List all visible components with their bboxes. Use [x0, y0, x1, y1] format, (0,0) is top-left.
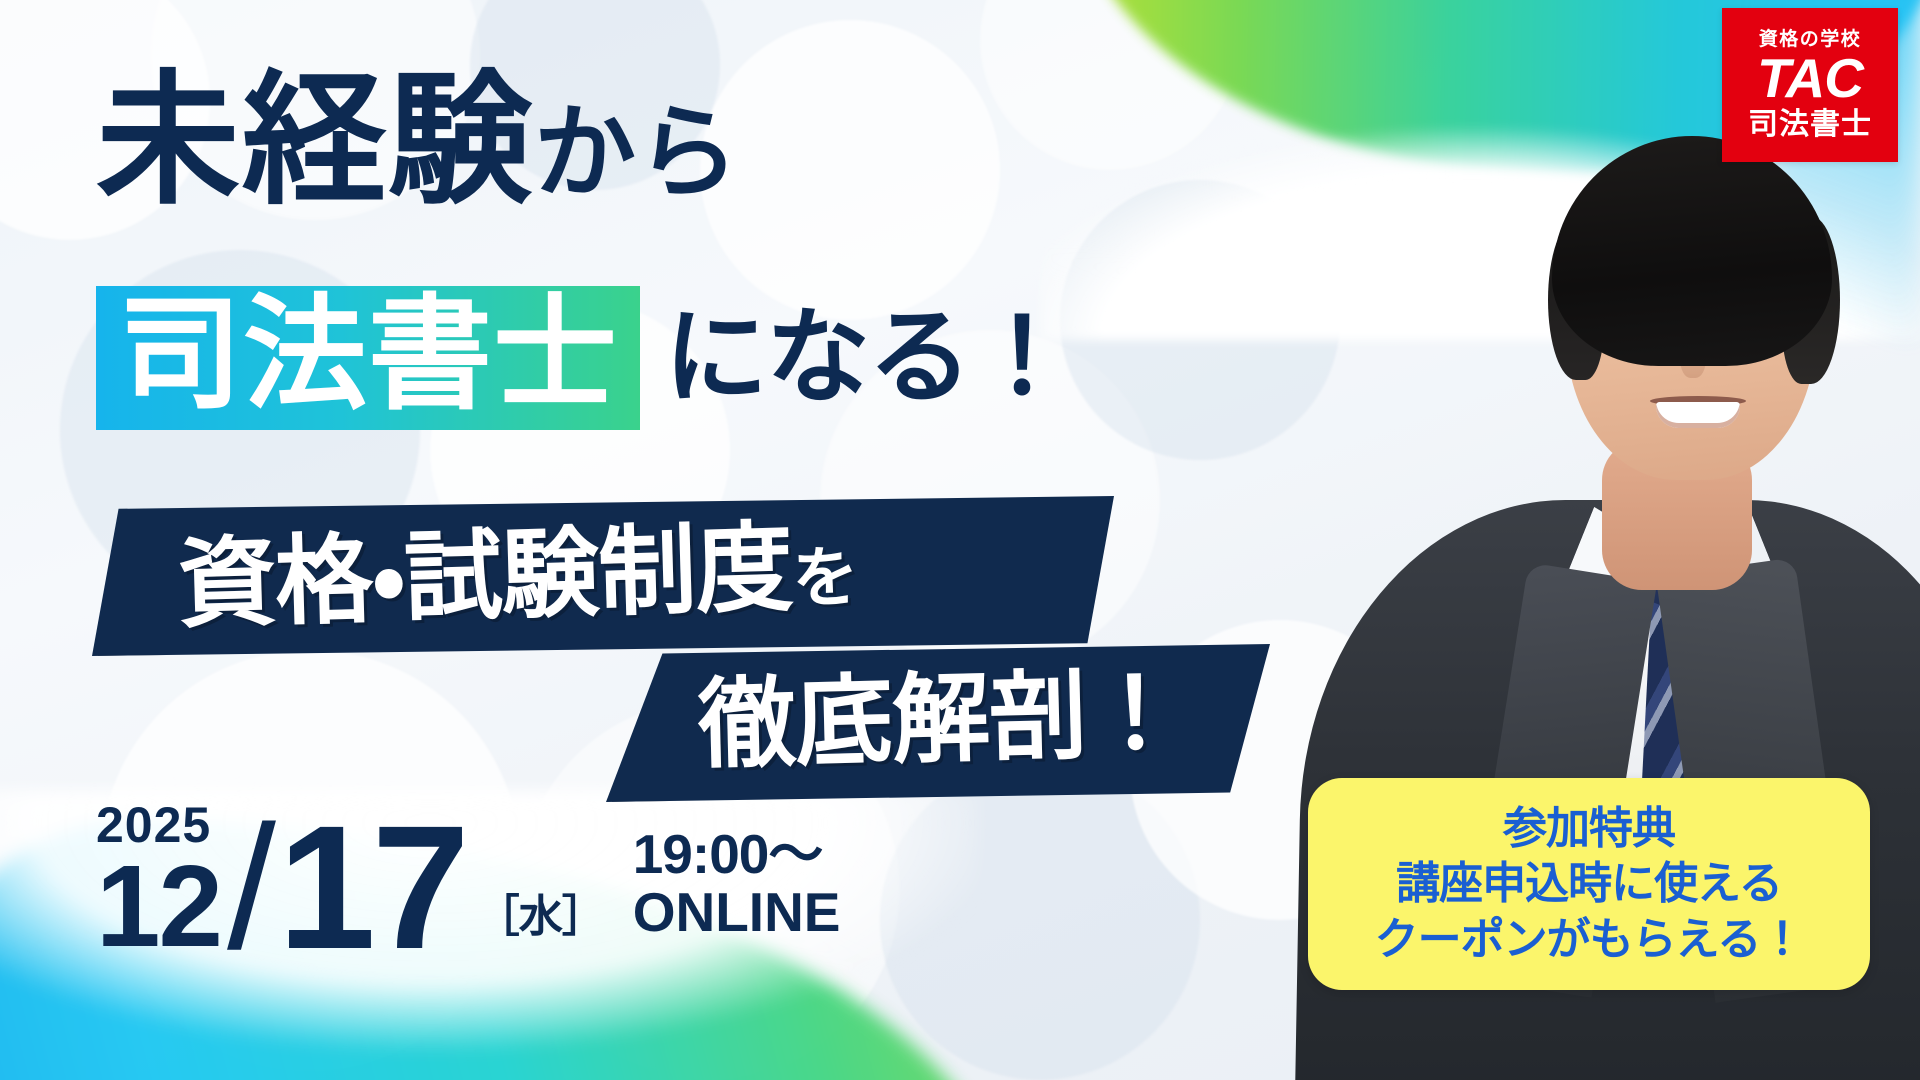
bokeh-circle: [700, 20, 1000, 320]
time-column: 19:00〜 ONLINE: [633, 825, 841, 942]
navy-banner-1-suffix: を: [791, 540, 858, 616]
navy-banner-2: 徹底解剖！: [606, 644, 1270, 802]
benefit-callout-line-2: 講座申込時に使える: [1396, 856, 1782, 911]
event-weekday: ［水］: [476, 895, 605, 939]
event-schedule: 2025 12 / 17 ［水］ 19:00〜 ONLINE: [96, 800, 840, 955]
benefit-callout-line-1: 参加特典: [1503, 801, 1675, 856]
benefit-callout-line-3: クーポンがもらえる！: [1375, 912, 1804, 967]
event-time: 19:00〜: [633, 825, 841, 883]
tac-logo-tagline: 資格の学校: [1759, 30, 1862, 49]
mouth: [1656, 402, 1740, 428]
tac-logo-wordmark: TAC: [1757, 51, 1863, 106]
qualification-chip-label: 司法書士: [118, 298, 618, 412]
date-separator: /: [227, 825, 276, 952]
headline-kana-text: から: [534, 105, 740, 208]
banner-canvas: 資格の学校 TAC 司法書士 未経験 から 司法書士 になる！ 資格・試験制度を…: [0, 0, 1920, 1080]
event-month: 12: [96, 858, 221, 955]
headline-tail-text: になる！: [664, 309, 1072, 408]
date-month-column: 2025 12: [96, 800, 221, 955]
qualification-chip: 司法書士: [96, 286, 640, 430]
navy-banner-1-main: 資格・試験制度: [177, 512, 794, 639]
navy-banner-2-text: 徹底解剖！: [697, 664, 1184, 774]
navy-banner-1-text: 資格・試験制度を: [177, 517, 859, 634]
benefit-callout: 参加特典 講座申込時に使える クーポンがもらえる！: [1308, 778, 1870, 990]
event-format: ONLINE: [633, 883, 841, 941]
tac-logo-course: 司法書士: [1748, 108, 1872, 141]
hair: [1552, 136, 1832, 366]
event-day: 17: [278, 823, 466, 953]
headline-main-text: 未経験: [96, 75, 534, 207]
tac-logo: 資格の学校 TAC 司法書士: [1722, 8, 1898, 162]
navy-banner-1: 資格・試験制度を: [92, 496, 1114, 656]
headline-line-2: 司法書士 になる！: [96, 286, 1072, 430]
headline-line-1: 未経験 から: [96, 75, 740, 207]
